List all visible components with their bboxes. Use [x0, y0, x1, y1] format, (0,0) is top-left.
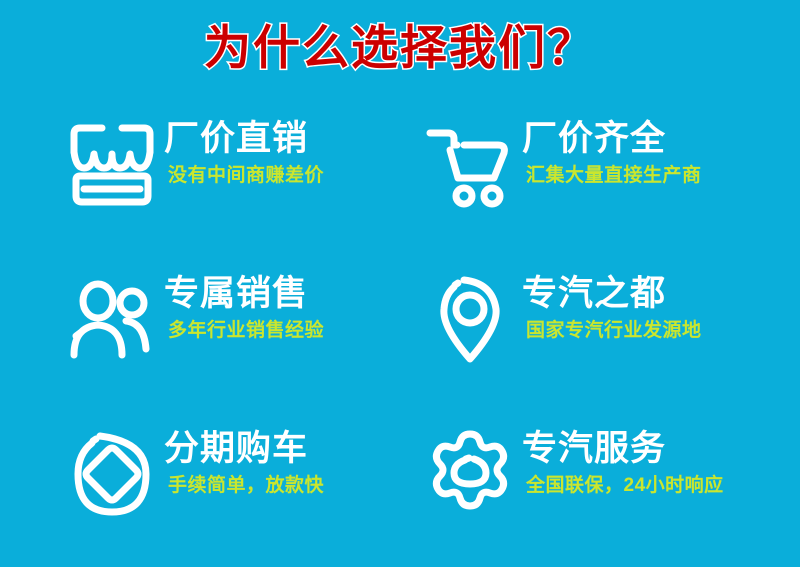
feature-subtitle: 手续简单，放款快: [168, 476, 324, 497]
feature-item: 厂价直销 没有中间商赚差价: [0, 108, 400, 263]
feature-subtitle: 没有中间商赚差价: [168, 166, 324, 187]
feature-title: 专汽服务: [522, 430, 724, 468]
feature-item: 专汽服务 全国联保，24小时响应: [400, 418, 800, 563]
two-people-icon: [64, 271, 160, 367]
page-title: 为什么选择我们？: [0, 22, 800, 74]
feature-grid: 厂价直销 没有中间商赚差价 厂价齐全 汇集大量直接生产商: [0, 108, 800, 563]
storefront-icon: [64, 116, 160, 212]
feature-text: 分期购车 手续简单，放款快: [164, 430, 324, 497]
feature-item: 专属销售 多年行业销售经验: [0, 263, 400, 418]
shopping-cart-icon: [422, 116, 518, 212]
feature-title: 专属销售: [164, 275, 324, 313]
feature-title: 厂价直销: [164, 120, 324, 158]
gear-icon: [422, 426, 518, 522]
feature-title: 厂价齐全: [522, 120, 702, 158]
feature-item: 专汽之都 国家专汽行业发源地: [400, 263, 800, 418]
feature-title: 分期购车: [164, 430, 324, 468]
feature-item: 分期购车 手续简单，放款快: [0, 418, 400, 563]
diamond-in-circle-icon: [64, 426, 160, 522]
feature-subtitle: 多年行业销售经验: [168, 321, 324, 342]
feature-subtitle: 汇集大量直接生产商: [526, 166, 702, 187]
feature-text: 专属销售 多年行业销售经验: [164, 275, 324, 342]
feature-subtitle: 全国联保，24小时响应: [526, 476, 724, 497]
feature-text: 厂价齐全 汇集大量直接生产商: [522, 120, 702, 187]
map-pin-icon: [422, 271, 518, 367]
feature-text: 厂价直销 没有中间商赚差价: [164, 120, 324, 187]
feature-title: 专汽之都: [522, 275, 702, 313]
feature-item: 厂价齐全 汇集大量直接生产商: [400, 108, 800, 263]
feature-subtitle: 国家专汽行业发源地: [526, 321, 702, 342]
feature-text: 专汽之都 国家专汽行业发源地: [522, 275, 702, 342]
feature-text: 专汽服务 全国联保，24小时响应: [522, 430, 724, 497]
